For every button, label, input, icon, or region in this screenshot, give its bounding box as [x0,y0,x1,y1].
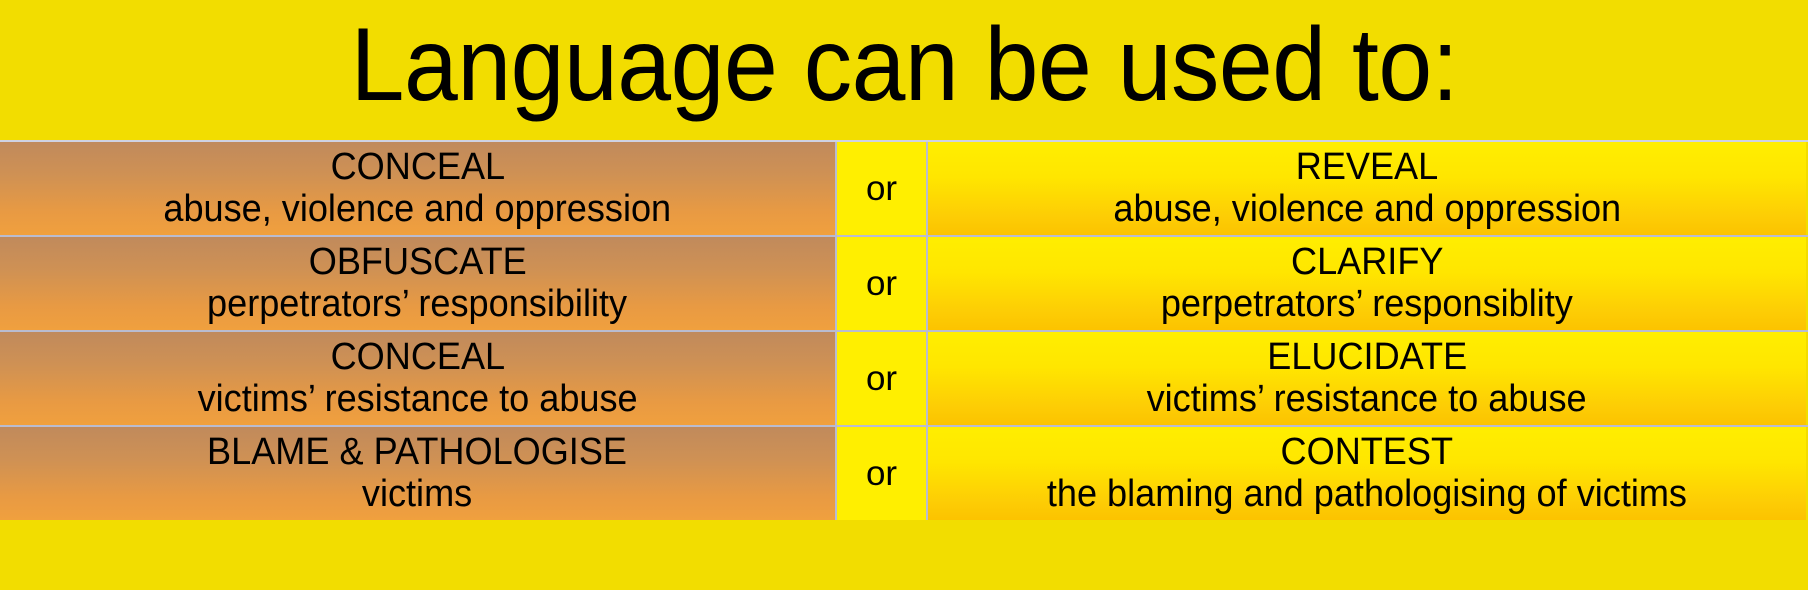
connector-label: or [866,361,897,396]
connector-label: or [866,266,897,301]
left-object: perpetrators’ responsibility [207,284,627,325]
left-verb: BLAME & PATHOLOGISE [208,432,628,473]
right-verb: CLARIFY [1291,242,1443,283]
right-object: the blaming and pathologising of victims [1047,474,1687,515]
table-row: OBFUSCATE perpetrators’ responsibility o… [0,235,1808,330]
left-object: victims [362,474,472,515]
left-object: victims’ resistance to abuse [197,379,637,420]
row-right-cell: CONTEST the blaming and pathologising of… [928,427,1806,520]
left-verb: OBFUSCATE [309,242,527,283]
left-verb: CONCEAL [330,147,505,188]
connector-label: or [866,171,897,206]
table-row: CONCEAL abuse, violence and oppression o… [0,140,1808,235]
table-row: CONCEAL victims’ resistance to abuse or … [0,330,1808,425]
row-left-cell: CONCEAL abuse, violence and oppression [0,142,835,235]
row-connector-cell: or [835,427,928,520]
row-right-cell: CLARIFY perpetrators’ responsiblity [928,237,1806,330]
right-object: perpetrators’ responsiblity [1161,284,1573,325]
row-connector-cell: or [835,142,928,235]
row-right-cell: REVEAL abuse, violence and oppression [928,142,1806,235]
slide-header: Language can be used to: [0,0,1808,140]
row-left-cell: OBFUSCATE perpetrators’ responsibility [0,237,835,330]
connector-label: or [866,456,897,491]
page-title: Language can be used to: [350,13,1457,127]
right-object: abuse, violence and oppression [1113,189,1621,230]
row-left-cell: BLAME & PATHOLOGISE victims [0,427,835,520]
right-object: victims’ resistance to abuse [1147,379,1587,420]
right-verb: CONTEST [1281,432,1453,473]
row-connector-cell: or [835,237,928,330]
slide-root: Language can be used to: CONCEAL abuse, … [0,0,1808,590]
row-right-cell: ELUCIDATE victims’ resistance to abuse [928,332,1806,425]
left-object: abuse, violence and oppression [164,189,672,230]
table-row: BLAME & PATHOLOGISE victims or CONTEST t… [0,425,1808,520]
left-verb: CONCEAL [330,337,505,378]
row-connector-cell: or [835,332,928,425]
right-verb: REVEAL [1296,147,1438,188]
row-left-cell: CONCEAL victims’ resistance to abuse [0,332,835,425]
right-verb: ELUCIDATE [1267,337,1467,378]
comparison-table: CONCEAL abuse, violence and oppression o… [0,140,1808,520]
